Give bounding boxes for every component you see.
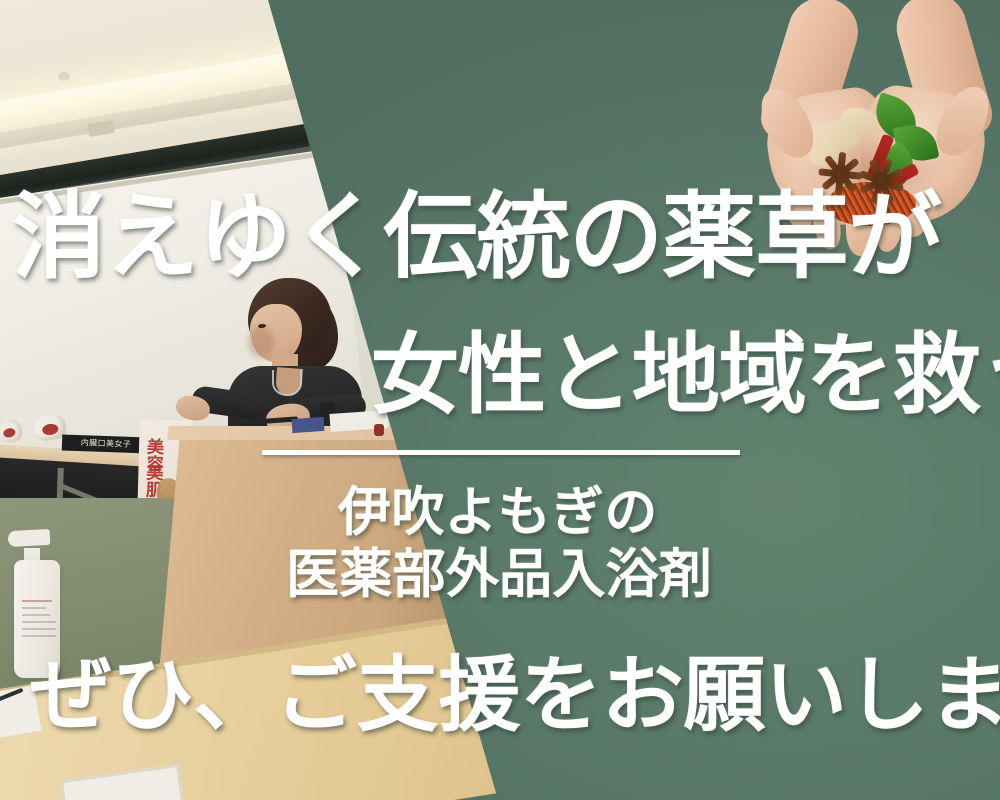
headline-line-1: 消えゆく伝統の薬草が — [12, 191, 941, 285]
cta-text: ぜひ、ご支援をお願いします。 — [30, 655, 1000, 737]
sanitizer-pump — [8, 529, 51, 547]
ceiling-speck-icon — [58, 72, 70, 81]
headline-line-2: 女性と地域を救う — [371, 331, 1000, 419]
necklace — [272, 370, 302, 396]
subtitle-line-2: 医薬部外品入浴剤 — [286, 548, 712, 601]
face-shadow — [248, 326, 274, 358]
horizontal-divider — [262, 450, 740, 455]
promo-banner: 内臓口美女子 美容 美肌 — [0, 0, 1000, 800]
podium-folder — [292, 417, 325, 433]
subtitle-line-1: 伊吹よもぎの — [338, 486, 658, 539]
